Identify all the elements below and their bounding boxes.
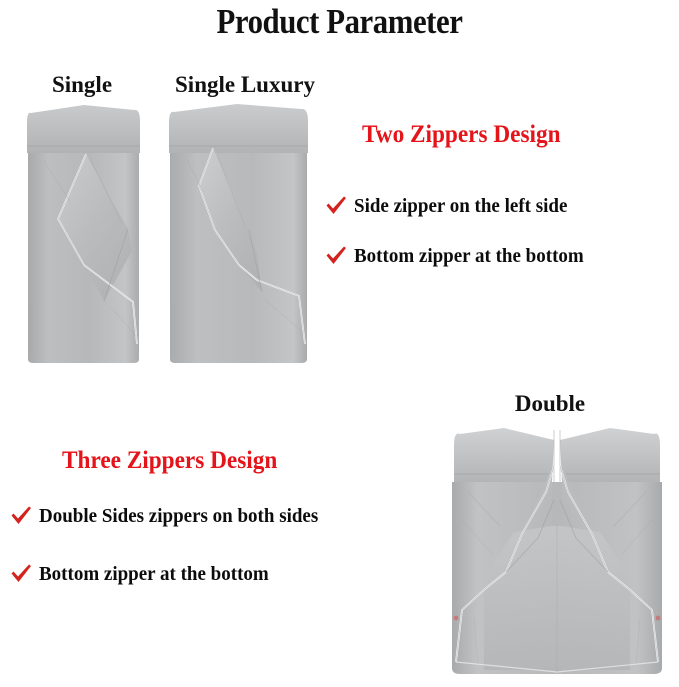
single-bed-illustration [24, 101, 143, 364]
bullet-double-sides-zippers: Double Sides zippers on both sides [10, 504, 333, 528]
bullet-text: Bottom zipper at the bottom [39, 562, 269, 586]
bed-label-double: Double [470, 391, 630, 417]
check-icon [10, 564, 32, 584]
page-title: Product Parameter [41, 0, 639, 44]
heading-three-zippers-design: Three Zippers Design [62, 446, 277, 476]
bullet-text: Bottom zipper at the bottom [354, 244, 584, 268]
check-icon [325, 196, 347, 216]
double-bed-illustration [434, 422, 679, 682]
bullet-bottom-zipper-double: Bottom zipper at the bottom [10, 562, 281, 586]
single-luxury-bed-illustration [165, 100, 311, 364]
heading-two-zippers-design: Two Zippers Design [362, 120, 561, 150]
bed-label-single-luxury: Single Luxury [152, 72, 338, 98]
bullet-side-zipper: Side zipper on the left side [325, 194, 579, 218]
bullet-text: Side zipper on the left side [354, 194, 567, 218]
bullet-bottom-zipper: Bottom zipper at the bottom [325, 244, 596, 268]
check-icon [325, 246, 347, 266]
bed-label-single: Single [26, 72, 138, 98]
check-icon [10, 506, 32, 526]
bullet-text: Double Sides zippers on both sides [39, 504, 318, 528]
